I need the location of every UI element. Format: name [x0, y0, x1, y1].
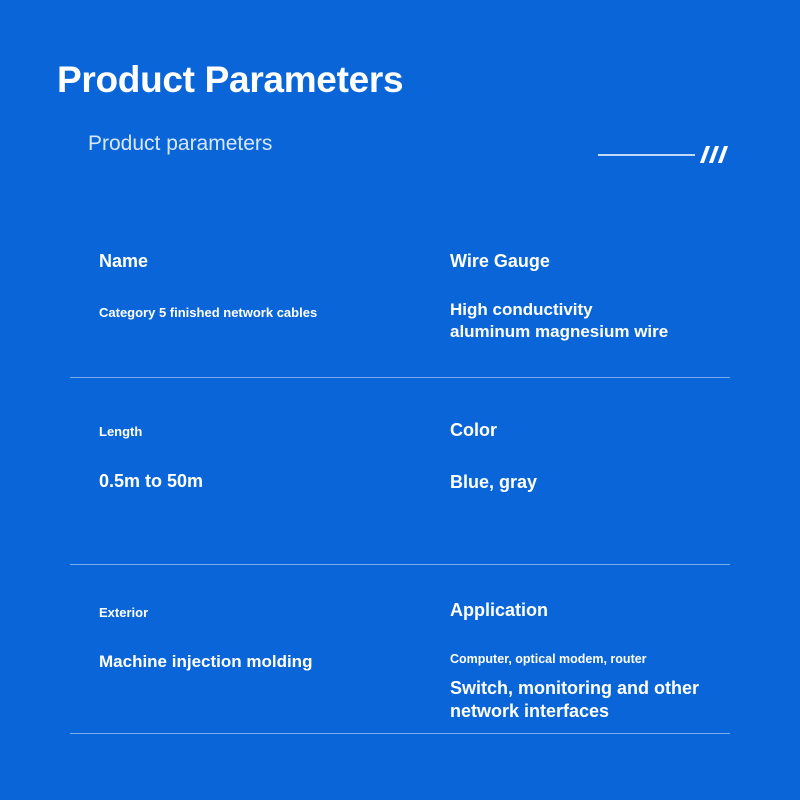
spec-value-small: Computer, optical modem, router — [450, 651, 699, 667]
spec-cell-color: Color Blue, gray — [450, 419, 537, 494]
product-parameters-page: { "page": { "background_color": "#0a66d8… — [0, 0, 800, 800]
spec-value: 0.5m to 50m — [99, 470, 203, 493]
triple-slash-icon — [701, 142, 737, 166]
row-divider — [70, 733, 730, 734]
spec-value: Category 5 finished network cables — [99, 305, 317, 322]
spec-label: Name — [99, 250, 317, 273]
spec-value-line-2: aluminum magnesium wire — [450, 321, 668, 343]
header-rule-icon — [598, 154, 695, 156]
spec-cell-length: Length 0.5m to 50m — [99, 424, 203, 494]
table-row: Length 0.5m to 50m Color Blue, gray — [0, 376, 800, 556]
spec-cell-name: Name Category 5 finished network cables — [99, 250, 317, 321]
page-title: Product Parameters — [57, 60, 403, 101]
spec-label: Color — [450, 419, 537, 442]
header-decoration — [598, 142, 738, 170]
page-subtitle: Product parameters — [88, 131, 272, 156]
spec-cell-exterior: Exterior Machine injection molding — [99, 605, 312, 673]
table-row: Name Category 5 finished network cables … — [0, 190, 800, 376]
spec-value-line-1: High conductivity — [450, 299, 668, 321]
spec-value: Blue, gray — [450, 471, 537, 494]
spec-label: Exterior — [99, 605, 312, 621]
spec-label: Length — [99, 424, 203, 440]
spec-table: Name Category 5 finished network cables … — [0, 190, 800, 756]
table-row: Exterior Machine injection molding Appli… — [0, 556, 800, 756]
spec-value-line-1: Switch, monitoring and other — [450, 677, 699, 700]
spec-label: Application — [450, 599, 699, 622]
page-header: Product Parameters Product parameters — [0, 0, 800, 190]
spec-value: Machine injection molding — [99, 651, 312, 673]
spec-value-line-2: network interfaces — [450, 700, 699, 723]
spec-cell-wire-gauge: Wire Gauge High conductivity aluminum ma… — [450, 250, 668, 343]
spec-cell-application: Application Computer, optical modem, rou… — [450, 599, 699, 724]
spec-label: Wire Gauge — [450, 250, 668, 273]
